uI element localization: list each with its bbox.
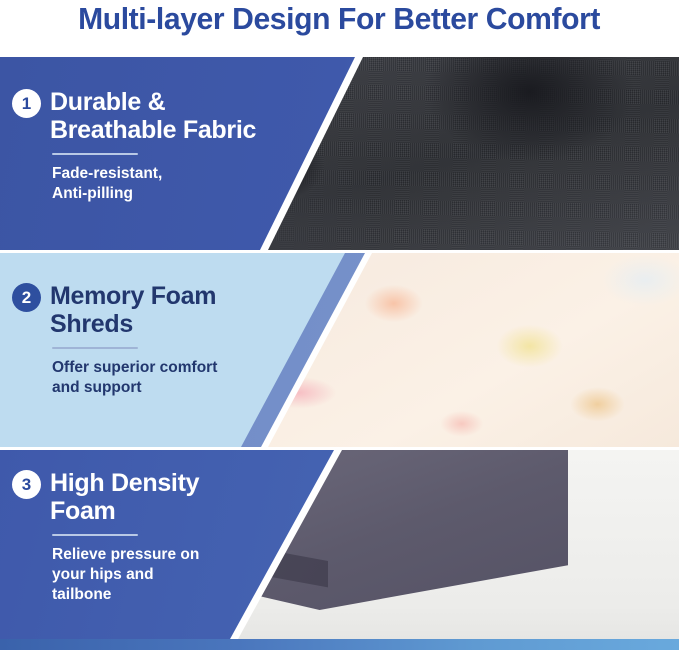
infographic-page: Multi-layer Design For Better Comfort 1 … — [0, 0, 679, 650]
page-title: Multi-layer Design For Better Comfort — [79, 0, 601, 37]
feature-panel-1: 1 Durable & Breathable Fabric Fade-resis… — [0, 57, 679, 250]
panel-1-divider — [52, 153, 138, 155]
panel-3-divider — [52, 534, 138, 536]
header: Multi-layer Design For Better Comfort — [0, 0, 679, 56]
panel-3-content: 3 High Density Foam Relieve pressure on … — [12, 450, 312, 650]
feature-panel-3: 3 High Density Foam Relieve pressure on … — [0, 450, 679, 650]
feature-panel-2: 2 Memory Foam Shreds Offer superior comf… — [0, 253, 679, 447]
step-badge-3: 3 — [12, 470, 41, 499]
panel-2-content: 2 Memory Foam Shreds Offer superior comf… — [12, 253, 312, 447]
panel-1-headline: Durable & Breathable Fabric — [50, 89, 256, 144]
panel-2-subtitle: Offer superior comfort and support — [52, 358, 312, 398]
panel-3-subtitle: Relieve pressure on your hips and tailbo… — [52, 545, 312, 605]
panel-2-divider — [52, 347, 138, 349]
panel-1-subtitle: Fade-resistant, Anti-pilling — [52, 164, 312, 204]
panel-2-headline: Memory Foam Shreds — [50, 283, 216, 338]
panel-1-headline-row: 1 Durable & Breathable Fabric — [12, 89, 312, 144]
step-badge-1: 1 — [12, 89, 41, 118]
step-badge-2: 2 — [12, 283, 41, 312]
panel-3-headline-row: 3 High Density Foam — [12, 470, 312, 525]
panel-3-headline: High Density Foam — [50, 470, 199, 525]
panel-1-content: 1 Durable & Breathable Fabric Fade-resis… — [12, 57, 312, 250]
panel-2-headline-row: 2 Memory Foam Shreds — [12, 283, 312, 338]
